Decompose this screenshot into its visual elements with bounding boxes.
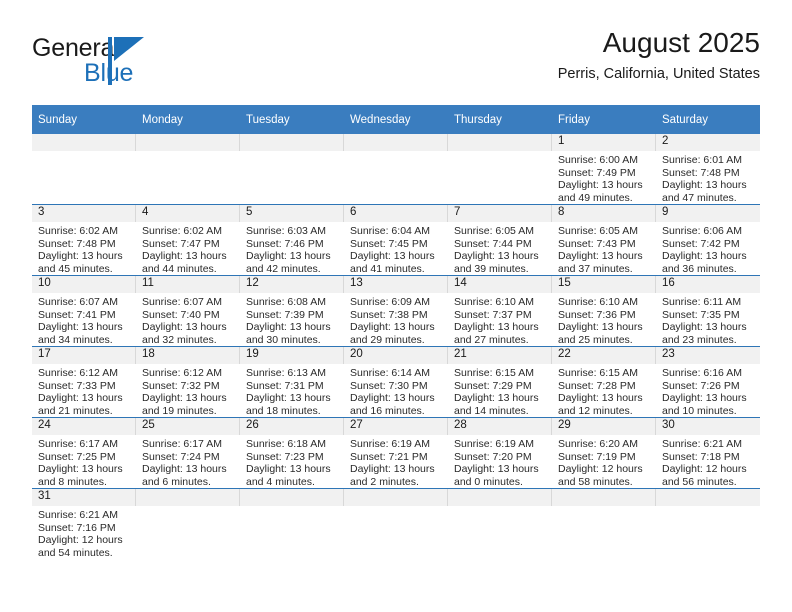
calendar-week-row: 1Sunrise: 6:00 AMSunset: 7:49 PMDaylight… — [32, 134, 760, 205]
daylight-duration-line1: Daylight: 13 hours — [454, 392, 548, 405]
calendar-cell-inner — [656, 489, 760, 559]
calendar-cell-inner: 30Sunrise: 6:21 AMSunset: 7:18 PMDayligh… — [656, 418, 760, 488]
daylight-duration-line1: Daylight: 13 hours — [662, 392, 756, 405]
daylight-duration-line1: Daylight: 13 hours — [454, 463, 548, 476]
sunrise-time: Sunrise: 6:11 AM — [662, 296, 756, 309]
daylight-duration-line2: and 30 minutes. — [246, 334, 340, 347]
day-number — [344, 489, 448, 506]
sunset-time: Sunset: 7:41 PM — [38, 309, 132, 322]
calendar-cell-inner: 3Sunrise: 6:02 AMSunset: 7:48 PMDaylight… — [32, 205, 136, 275]
sunrise-time: Sunrise: 6:02 AM — [142, 225, 236, 238]
sunset-time: Sunset: 7:48 PM — [662, 167, 756, 180]
calendar-cell-inner: 22Sunrise: 6:15 AMSunset: 7:28 PMDayligh… — [552, 347, 656, 417]
day-number: 11 — [136, 276, 240, 293]
sunset-time: Sunset: 7:20 PM — [454, 451, 548, 464]
calendar-cell-inner — [136, 489, 240, 559]
day-number: 30 — [656, 418, 760, 435]
day-details: Sunrise: 6:13 AMSunset: 7:31 PMDaylight:… — [240, 364, 344, 417]
sunrise-time: Sunrise: 6:15 AM — [558, 367, 652, 380]
sunrise-time: Sunrise: 6:06 AM — [662, 225, 756, 238]
calendar-cell-inner: 14Sunrise: 6:10 AMSunset: 7:37 PMDayligh… — [448, 276, 552, 346]
calendar-day-cell[interactable]: 24Sunrise: 6:17 AMSunset: 7:25 PMDayligh… — [32, 418, 136, 489]
day-number: 4 — [136, 205, 240, 222]
daylight-duration-line2: and 19 minutes. — [142, 405, 236, 418]
calendar-cell-inner: 11Sunrise: 6:07 AMSunset: 7:40 PMDayligh… — [136, 276, 240, 346]
daylight-duration-line2: and 6 minutes. — [142, 476, 236, 489]
sunset-time: Sunset: 7:21 PM — [350, 451, 444, 464]
calendar-cell-inner: 29Sunrise: 6:20 AMSunset: 7:19 PMDayligh… — [552, 418, 656, 488]
calendar-day-cell[interactable]: 5Sunrise: 6:03 AMSunset: 7:46 PMDaylight… — [240, 205, 344, 276]
day-number: 22 — [552, 347, 656, 364]
calendar-cell-inner: 1Sunrise: 6:00 AMSunset: 7:49 PMDaylight… — [552, 134, 656, 204]
sunrise-time: Sunrise: 6:04 AM — [350, 225, 444, 238]
day-number: 28 — [448, 418, 552, 435]
sunset-time: Sunset: 7:32 PM — [142, 380, 236, 393]
sunrise-time: Sunrise: 6:05 AM — [558, 225, 652, 238]
day-details: Sunrise: 6:10 AMSunset: 7:37 PMDaylight:… — [448, 293, 552, 346]
calendar-cell-inner: 31Sunrise: 6:21 AMSunset: 7:16 PMDayligh… — [32, 489, 136, 559]
calendar-cell-empty — [344, 489, 448, 560]
daylight-duration-line1: Daylight: 13 hours — [246, 250, 340, 263]
sunset-time: Sunset: 7:48 PM — [38, 238, 132, 251]
daylight-duration-line2: and 2 minutes. — [350, 476, 444, 489]
calendar-cell-empty — [240, 489, 344, 560]
calendar-cell-empty — [448, 134, 552, 205]
daylight-duration-line1: Daylight: 13 hours — [38, 392, 132, 405]
sunrise-time: Sunrise: 6:15 AM — [454, 367, 548, 380]
sunrise-time: Sunrise: 6:17 AM — [38, 438, 132, 451]
calendar-page: General Blue August 2025 Perris, Califor… — [0, 0, 792, 612]
daylight-duration-line1: Daylight: 13 hours — [38, 250, 132, 263]
sunrise-time: Sunrise: 6:09 AM — [350, 296, 444, 309]
daylight-duration-line2: and 18 minutes. — [246, 405, 340, 418]
day-details: Sunrise: 6:15 AMSunset: 7:29 PMDaylight:… — [448, 364, 552, 417]
calendar-day-cell[interactable]: 27Sunrise: 6:19 AMSunset: 7:21 PMDayligh… — [344, 418, 448, 489]
calendar-cell-inner: 8Sunrise: 6:05 AMSunset: 7:43 PMDaylight… — [552, 205, 656, 275]
sunset-time: Sunset: 7:18 PM — [662, 451, 756, 464]
calendar-cell-inner: 19Sunrise: 6:13 AMSunset: 7:31 PMDayligh… — [240, 347, 344, 417]
daylight-duration-line2: and 56 minutes. — [662, 476, 756, 489]
calendar-cell-inner: 16Sunrise: 6:11 AMSunset: 7:35 PMDayligh… — [656, 276, 760, 346]
daylight-duration-line1: Daylight: 13 hours — [454, 321, 548, 334]
sunrise-time: Sunrise: 6:10 AM — [454, 296, 548, 309]
calendar-day-cell[interactable]: 18Sunrise: 6:12 AMSunset: 7:32 PMDayligh… — [136, 347, 240, 418]
daylight-duration-line1: Daylight: 13 hours — [142, 321, 236, 334]
daylight-duration-line2: and 12 minutes. — [558, 405, 652, 418]
daylight-duration-line2: and 0 minutes. — [454, 476, 548, 489]
calendar-day-cell[interactable]: 21Sunrise: 6:15 AMSunset: 7:29 PMDayligh… — [448, 347, 552, 418]
title-block: August 2025 Perris, California, United S… — [558, 26, 760, 85]
sunrise-time: Sunrise: 6:08 AM — [246, 296, 340, 309]
calendar-cell-inner: 18Sunrise: 6:12 AMSunset: 7:32 PMDayligh… — [136, 347, 240, 417]
daylight-duration-line2: and 44 minutes. — [142, 263, 236, 276]
calendar-day-cell[interactable]: 13Sunrise: 6:09 AMSunset: 7:38 PMDayligh… — [344, 276, 448, 347]
sunrise-time: Sunrise: 6:12 AM — [142, 367, 236, 380]
daylight-duration-line1: Daylight: 12 hours — [662, 463, 756, 476]
calendar-day-cell[interactable]: 9Sunrise: 6:06 AMSunset: 7:42 PMDaylight… — [656, 205, 760, 276]
daylight-duration-line2: and 54 minutes. — [38, 547, 132, 560]
calendar-week-row: 10Sunrise: 6:07 AMSunset: 7:41 PMDayligh… — [32, 276, 760, 347]
day-details: Sunrise: 6:17 AMSunset: 7:24 PMDaylight:… — [136, 435, 240, 488]
day-details: Sunrise: 6:06 AMSunset: 7:42 PMDaylight:… — [656, 222, 760, 275]
day-details: Sunrise: 6:21 AMSunset: 7:16 PMDaylight:… — [32, 506, 136, 559]
day-number: 12 — [240, 276, 344, 293]
daylight-duration-line2: and 14 minutes. — [454, 405, 548, 418]
sunrise-time: Sunrise: 6:12 AM — [38, 367, 132, 380]
calendar-day-cell[interactable]: 12Sunrise: 6:08 AMSunset: 7:39 PMDayligh… — [240, 276, 344, 347]
brand-logo[interactable]: General Blue — [32, 34, 252, 94]
day-number — [448, 134, 552, 151]
calendar-week-row: 17Sunrise: 6:12 AMSunset: 7:33 PMDayligh… — [32, 347, 760, 418]
day-number: 21 — [448, 347, 552, 364]
daylight-duration-line1: Daylight: 13 hours — [142, 463, 236, 476]
day-details: Sunrise: 6:02 AMSunset: 7:48 PMDaylight:… — [32, 222, 136, 275]
calendar-day-cell[interactable]: 25Sunrise: 6:17 AMSunset: 7:24 PMDayligh… — [136, 418, 240, 489]
daylight-duration-line2: and 27 minutes. — [454, 334, 548, 347]
day-details: Sunrise: 6:07 AMSunset: 7:41 PMDaylight:… — [32, 293, 136, 346]
day-details: Sunrise: 6:21 AMSunset: 7:18 PMDaylight:… — [656, 435, 760, 488]
day-details: Sunrise: 6:12 AMSunset: 7:33 PMDaylight:… — [32, 364, 136, 417]
calendar-cell-inner — [344, 489, 448, 559]
calendar-week-row: 3Sunrise: 6:02 AMSunset: 7:48 PMDaylight… — [32, 205, 760, 276]
day-number: 31 — [32, 489, 136, 506]
daylight-duration-line2: and 34 minutes. — [38, 334, 132, 347]
calendar-cell-inner — [552, 489, 656, 559]
sunset-time: Sunset: 7:26 PM — [662, 380, 756, 393]
calendar-cell-inner: 2Sunrise: 6:01 AMSunset: 7:48 PMDaylight… — [656, 134, 760, 204]
calendar-day-cell[interactable]: 3Sunrise: 6:02 AMSunset: 7:48 PMDaylight… — [32, 205, 136, 276]
calendar-cell-empty — [136, 134, 240, 205]
day-number: 25 — [136, 418, 240, 435]
calendar-cell-inner: 27Sunrise: 6:19 AMSunset: 7:21 PMDayligh… — [344, 418, 448, 488]
sunrise-time: Sunrise: 6:00 AM — [558, 154, 652, 167]
day-number — [32, 134, 136, 151]
sunset-time: Sunset: 7:25 PM — [38, 451, 132, 464]
day-details: Sunrise: 6:10 AMSunset: 7:36 PMDaylight:… — [552, 293, 656, 346]
sunset-time: Sunset: 7:36 PM — [558, 309, 652, 322]
day-details: Sunrise: 6:05 AMSunset: 7:44 PMDaylight:… — [448, 222, 552, 275]
daylight-duration-line1: Daylight: 13 hours — [246, 463, 340, 476]
daylight-duration-line2: and 39 minutes. — [454, 263, 548, 276]
daylight-duration-line2: and 4 minutes. — [246, 476, 340, 489]
day-details: Sunrise: 6:19 AMSunset: 7:21 PMDaylight:… — [344, 435, 448, 488]
calendar-header-row: Sunday Monday Tuesday Wednesday Thursday… — [32, 105, 760, 134]
day-number: 6 — [344, 205, 448, 222]
calendar-day-cell[interactable]: 4Sunrise: 6:02 AMSunset: 7:47 PMDaylight… — [136, 205, 240, 276]
calendar-day-cell[interactable]: 22Sunrise: 6:15 AMSunset: 7:28 PMDayligh… — [552, 347, 656, 418]
sunrise-time: Sunrise: 6:17 AM — [142, 438, 236, 451]
calendar-cell-inner: 9Sunrise: 6:06 AMSunset: 7:42 PMDaylight… — [656, 205, 760, 275]
calendar-cell-inner: 6Sunrise: 6:04 AMSunset: 7:45 PMDaylight… — [344, 205, 448, 275]
day-number — [344, 134, 448, 151]
calendar-cell-inner: 25Sunrise: 6:17 AMSunset: 7:24 PMDayligh… — [136, 418, 240, 488]
day-details: Sunrise: 6:12 AMSunset: 7:32 PMDaylight:… — [136, 364, 240, 417]
sunset-time: Sunset: 7:46 PM — [246, 238, 340, 251]
daylight-duration-line2: and 10 minutes. — [662, 405, 756, 418]
daylight-duration-line1: Daylight: 13 hours — [558, 392, 652, 405]
day-number: 10 — [32, 276, 136, 293]
day-details: Sunrise: 6:01 AMSunset: 7:48 PMDaylight:… — [656, 151, 760, 204]
day-number: 18 — [136, 347, 240, 364]
sunset-time: Sunset: 7:45 PM — [350, 238, 444, 251]
sunset-time: Sunset: 7:39 PM — [246, 309, 340, 322]
calendar-week-row: 24Sunrise: 6:17 AMSunset: 7:25 PMDayligh… — [32, 418, 760, 489]
day-details: Sunrise: 6:20 AMSunset: 7:19 PMDaylight:… — [552, 435, 656, 488]
daylight-duration-line1: Daylight: 13 hours — [142, 250, 236, 263]
sunset-time: Sunset: 7:38 PM — [350, 309, 444, 322]
calendar-cell-inner: 17Sunrise: 6:12 AMSunset: 7:33 PMDayligh… — [32, 347, 136, 417]
day-number — [240, 134, 344, 151]
day-number: 1 — [552, 134, 656, 151]
daylight-duration-line1: Daylight: 13 hours — [350, 463, 444, 476]
sunset-time: Sunset: 7:47 PM — [142, 238, 236, 251]
sunrise-time: Sunrise: 6:21 AM — [662, 438, 756, 451]
weekday-header-tuesday: Tuesday — [240, 105, 344, 134]
calendar-cell-inner: 15Sunrise: 6:10 AMSunset: 7:36 PMDayligh… — [552, 276, 656, 346]
weekday-header-monday: Monday — [136, 105, 240, 134]
daylight-duration-line2: and 58 minutes. — [558, 476, 652, 489]
day-details: Sunrise: 6:05 AMSunset: 7:43 PMDaylight:… — [552, 222, 656, 275]
calendar-cell-inner — [448, 489, 552, 559]
day-number: 24 — [32, 418, 136, 435]
day-details: Sunrise: 6:03 AMSunset: 7:46 PMDaylight:… — [240, 222, 344, 275]
sunset-time: Sunset: 7:43 PM — [558, 238, 652, 251]
daylight-duration-line1: Daylight: 13 hours — [454, 250, 548, 263]
calendar-cell-empty — [136, 489, 240, 560]
sunset-time: Sunset: 7:23 PM — [246, 451, 340, 464]
daylight-duration-line1: Daylight: 13 hours — [246, 392, 340, 405]
sunset-time: Sunset: 7:40 PM — [142, 309, 236, 322]
day-number: 15 — [552, 276, 656, 293]
daylight-duration-line2: and 42 minutes. — [246, 263, 340, 276]
sunset-time: Sunset: 7:31 PM — [246, 380, 340, 393]
calendar-cell-empty — [344, 134, 448, 205]
daylight-duration-line2: and 32 minutes. — [142, 334, 236, 347]
sunrise-time: Sunrise: 6:16 AM — [662, 367, 756, 380]
sunrise-time: Sunrise: 6:07 AM — [142, 296, 236, 309]
sunrise-time: Sunrise: 6:13 AM — [246, 367, 340, 380]
day-details: Sunrise: 6:19 AMSunset: 7:20 PMDaylight:… — [448, 435, 552, 488]
day-number — [136, 134, 240, 151]
sunset-time: Sunset: 7:33 PM — [38, 380, 132, 393]
day-number: 9 — [656, 205, 760, 222]
calendar-cell-empty — [552, 489, 656, 560]
day-details: Sunrise: 6:16 AMSunset: 7:26 PMDaylight:… — [656, 364, 760, 417]
daylight-duration-line2: and 36 minutes. — [662, 263, 756, 276]
calendar-cell-inner: 26Sunrise: 6:18 AMSunset: 7:23 PMDayligh… — [240, 418, 344, 488]
sunset-time: Sunset: 7:16 PM — [38, 522, 132, 535]
day-number: 27 — [344, 418, 448, 435]
daylight-duration-line1: Daylight: 13 hours — [350, 321, 444, 334]
daylight-duration-line1: Daylight: 13 hours — [662, 250, 756, 263]
calendar-day-cell[interactable]: 29Sunrise: 6:20 AMSunset: 7:19 PMDayligh… — [552, 418, 656, 489]
weekday-header-wednesday: Wednesday — [344, 105, 448, 134]
calendar-cell-empty — [656, 489, 760, 560]
weekday-header-sunday: Sunday — [32, 105, 136, 134]
calendar-day-cell[interactable]: 19Sunrise: 6:13 AMSunset: 7:31 PMDayligh… — [240, 347, 344, 418]
sunrise-time: Sunrise: 6:03 AM — [246, 225, 340, 238]
sunrise-time: Sunrise: 6:07 AM — [38, 296, 132, 309]
weekday-header-friday: Friday — [552, 105, 656, 134]
calendar-cell-inner: 28Sunrise: 6:19 AMSunset: 7:20 PMDayligh… — [448, 418, 552, 488]
daylight-duration-line2: and 47 minutes. — [662, 192, 756, 205]
daylight-duration-line2: and 16 minutes. — [350, 405, 444, 418]
sunrise-time: Sunrise: 6:02 AM — [38, 225, 132, 238]
calendar-cell-inner — [32, 134, 136, 204]
calendar-cell-inner: 13Sunrise: 6:09 AMSunset: 7:38 PMDayligh… — [344, 276, 448, 346]
day-number: 29 — [552, 418, 656, 435]
sunrise-time: Sunrise: 6:18 AM — [246, 438, 340, 451]
calendar-cell-empty — [32, 134, 136, 205]
day-number: 8 — [552, 205, 656, 222]
daylight-duration-line1: Daylight: 13 hours — [662, 321, 756, 334]
day-number: 26 — [240, 418, 344, 435]
day-details: Sunrise: 6:11 AMSunset: 7:35 PMDaylight:… — [656, 293, 760, 346]
calendar-day-cell[interactable]: 2Sunrise: 6:01 AMSunset: 7:48 PMDaylight… — [656, 134, 760, 205]
calendar-day-cell[interactable]: 20Sunrise: 6:14 AMSunset: 7:30 PMDayligh… — [344, 347, 448, 418]
page-title: August 2025 — [558, 26, 760, 60]
day-number: 7 — [448, 205, 552, 222]
daylight-duration-line2: and 37 minutes. — [558, 263, 652, 276]
sunrise-time: Sunrise: 6:01 AM — [662, 154, 756, 167]
daylight-duration-line1: Daylight: 13 hours — [662, 179, 756, 192]
daylight-duration-line1: Daylight: 13 hours — [38, 463, 132, 476]
calendar-day-cell[interactable]: 28Sunrise: 6:19 AMSunset: 7:20 PMDayligh… — [448, 418, 552, 489]
calendar-day-cell[interactable]: 6Sunrise: 6:04 AMSunset: 7:45 PMDaylight… — [344, 205, 448, 276]
sunrise-time: Sunrise: 6:19 AM — [454, 438, 548, 451]
day-details: Sunrise: 6:15 AMSunset: 7:28 PMDaylight:… — [552, 364, 656, 417]
calendar-cell-inner — [344, 134, 448, 204]
calendar-day-cell[interactable]: 23Sunrise: 6:16 AMSunset: 7:26 PMDayligh… — [656, 347, 760, 418]
sunrise-time: Sunrise: 6:10 AM — [558, 296, 652, 309]
day-number — [240, 489, 344, 506]
calendar-cell-inner — [240, 489, 344, 559]
calendar-week-row: 31Sunrise: 6:21 AMSunset: 7:16 PMDayligh… — [32, 489, 760, 560]
sunset-time: Sunset: 7:49 PM — [558, 167, 652, 180]
brand-name-blue: Blue — [84, 59, 133, 88]
calendar-cell-inner: 20Sunrise: 6:14 AMSunset: 7:30 PMDayligh… — [344, 347, 448, 417]
day-details: Sunrise: 6:18 AMSunset: 7:23 PMDaylight:… — [240, 435, 344, 488]
daylight-duration-line2: and 21 minutes. — [38, 405, 132, 418]
page-subtitle: Perris, California, United States — [558, 63, 760, 85]
calendar-day-cell[interactable]: 30Sunrise: 6:21 AMSunset: 7:18 PMDayligh… — [656, 418, 760, 489]
day-number: 16 — [656, 276, 760, 293]
daylight-duration-line2: and 8 minutes. — [38, 476, 132, 489]
day-number: 17 — [32, 347, 136, 364]
weekday-header-thursday: Thursday — [448, 105, 552, 134]
calendar-cell-empty — [240, 134, 344, 205]
sunrise-sunset-calendar: Sunday Monday Tuesday Wednesday Thursday… — [32, 105, 760, 559]
calendar-cell-inner: 4Sunrise: 6:02 AMSunset: 7:47 PMDaylight… — [136, 205, 240, 275]
day-number — [656, 489, 760, 506]
day-details: Sunrise: 6:02 AMSunset: 7:47 PMDaylight:… — [136, 222, 240, 275]
sunset-time: Sunset: 7:24 PM — [142, 451, 236, 464]
day-details: Sunrise: 6:07 AMSunset: 7:40 PMDaylight:… — [136, 293, 240, 346]
day-number: 23 — [656, 347, 760, 364]
day-number: 13 — [344, 276, 448, 293]
daylight-duration-line1: Daylight: 13 hours — [246, 321, 340, 334]
daylight-duration-line2: and 25 minutes. — [558, 334, 652, 347]
calendar-day-cell[interactable]: 16Sunrise: 6:11 AMSunset: 7:35 PMDayligh… — [656, 276, 760, 347]
calendar-day-cell[interactable]: 11Sunrise: 6:07 AMSunset: 7:40 PMDayligh… — [136, 276, 240, 347]
calendar-day-cell[interactable]: 31Sunrise: 6:21 AMSunset: 7:16 PMDayligh… — [32, 489, 136, 560]
daylight-duration-line1: Daylight: 13 hours — [350, 392, 444, 405]
calendar-cell-inner: 12Sunrise: 6:08 AMSunset: 7:39 PMDayligh… — [240, 276, 344, 346]
day-details: Sunrise: 6:00 AMSunset: 7:49 PMDaylight:… — [552, 151, 656, 204]
daylight-duration-line1: Daylight: 13 hours — [558, 250, 652, 263]
daylight-duration-line1: Daylight: 13 hours — [350, 250, 444, 263]
sunset-time: Sunset: 7:42 PM — [662, 238, 756, 251]
day-number: 2 — [656, 134, 760, 151]
calendar-day-cell[interactable]: 17Sunrise: 6:12 AMSunset: 7:33 PMDayligh… — [32, 347, 136, 418]
sunset-time: Sunset: 7:35 PM — [662, 309, 756, 322]
calendar-cell-inner — [448, 134, 552, 204]
daylight-duration-line2: and 49 minutes. — [558, 192, 652, 205]
daylight-duration-line1: Daylight: 12 hours — [38, 534, 132, 547]
daylight-duration-line2: and 29 minutes. — [350, 334, 444, 347]
calendar-day-cell[interactable]: 26Sunrise: 6:18 AMSunset: 7:23 PMDayligh… — [240, 418, 344, 489]
sunset-time: Sunset: 7:37 PM — [454, 309, 548, 322]
calendar-cell-inner: 7Sunrise: 6:05 AMSunset: 7:44 PMDaylight… — [448, 205, 552, 275]
sunrise-time: Sunrise: 6:14 AM — [350, 367, 444, 380]
day-number — [448, 489, 552, 506]
page-header: General Blue August 2025 Perris, Califor… — [32, 26, 760, 98]
sunset-time: Sunset: 7:29 PM — [454, 380, 548, 393]
day-number: 14 — [448, 276, 552, 293]
triangle-logo-icon — [114, 37, 144, 61]
day-number: 20 — [344, 347, 448, 364]
sunset-time: Sunset: 7:19 PM — [558, 451, 652, 464]
calendar-cell-inner: 23Sunrise: 6:16 AMSunset: 7:26 PMDayligh… — [656, 347, 760, 417]
daylight-duration-line2: and 45 minutes. — [38, 263, 132, 276]
day-details: Sunrise: 6:08 AMSunset: 7:39 PMDaylight:… — [240, 293, 344, 346]
calendar-day-cell[interactable]: 14Sunrise: 6:10 AMSunset: 7:37 PMDayligh… — [448, 276, 552, 347]
day-number — [136, 489, 240, 506]
daylight-duration-line2: and 23 minutes. — [662, 334, 756, 347]
weekday-header-saturday: Saturday — [656, 105, 760, 134]
sunrise-time: Sunrise: 6:20 AM — [558, 438, 652, 451]
calendar-cell-inner: 10Sunrise: 6:07 AMSunset: 7:41 PMDayligh… — [32, 276, 136, 346]
calendar-day-cell[interactable]: 7Sunrise: 6:05 AMSunset: 7:44 PMDaylight… — [448, 205, 552, 276]
sunrise-time: Sunrise: 6:19 AM — [350, 438, 444, 451]
calendar-cell-inner: 21Sunrise: 6:15 AMSunset: 7:29 PMDayligh… — [448, 347, 552, 417]
calendar-cell-inner: 24Sunrise: 6:17 AMSunset: 7:25 PMDayligh… — [32, 418, 136, 488]
calendar-day-cell[interactable]: 10Sunrise: 6:07 AMSunset: 7:41 PMDayligh… — [32, 276, 136, 347]
day-details: Sunrise: 6:17 AMSunset: 7:25 PMDaylight:… — [32, 435, 136, 488]
daylight-duration-line1: Daylight: 13 hours — [38, 321, 132, 334]
calendar-day-cell[interactable]: 8Sunrise: 6:05 AMSunset: 7:43 PMDaylight… — [552, 205, 656, 276]
calendar-cell-inner: 5Sunrise: 6:03 AMSunset: 7:46 PMDaylight… — [240, 205, 344, 275]
calendar-day-cell[interactable]: 15Sunrise: 6:10 AMSunset: 7:36 PMDayligh… — [552, 276, 656, 347]
daylight-duration-line2: and 41 minutes. — [350, 263, 444, 276]
sunset-time: Sunset: 7:30 PM — [350, 380, 444, 393]
calendar-body: 1Sunrise: 6:00 AMSunset: 7:49 PMDaylight… — [32, 134, 760, 559]
day-details: Sunrise: 6:09 AMSunset: 7:38 PMDaylight:… — [344, 293, 448, 346]
daylight-duration-line1: Daylight: 13 hours — [558, 321, 652, 334]
day-details: Sunrise: 6:04 AMSunset: 7:45 PMDaylight:… — [344, 222, 448, 275]
sunset-time: Sunset: 7:28 PM — [558, 380, 652, 393]
daylight-duration-line1: Daylight: 13 hours — [558, 179, 652, 192]
sunrise-time: Sunrise: 6:05 AM — [454, 225, 548, 238]
day-details: Sunrise: 6:14 AMSunset: 7:30 PMDaylight:… — [344, 364, 448, 417]
sunset-time: Sunset: 7:44 PM — [454, 238, 548, 251]
day-number: 3 — [32, 205, 136, 222]
calendar-cell-inner — [136, 134, 240, 204]
calendar-day-cell[interactable]: 1Sunrise: 6:00 AMSunset: 7:49 PMDaylight… — [552, 134, 656, 205]
day-number: 19 — [240, 347, 344, 364]
calendar-cell-empty — [448, 489, 552, 560]
day-number — [552, 489, 656, 506]
